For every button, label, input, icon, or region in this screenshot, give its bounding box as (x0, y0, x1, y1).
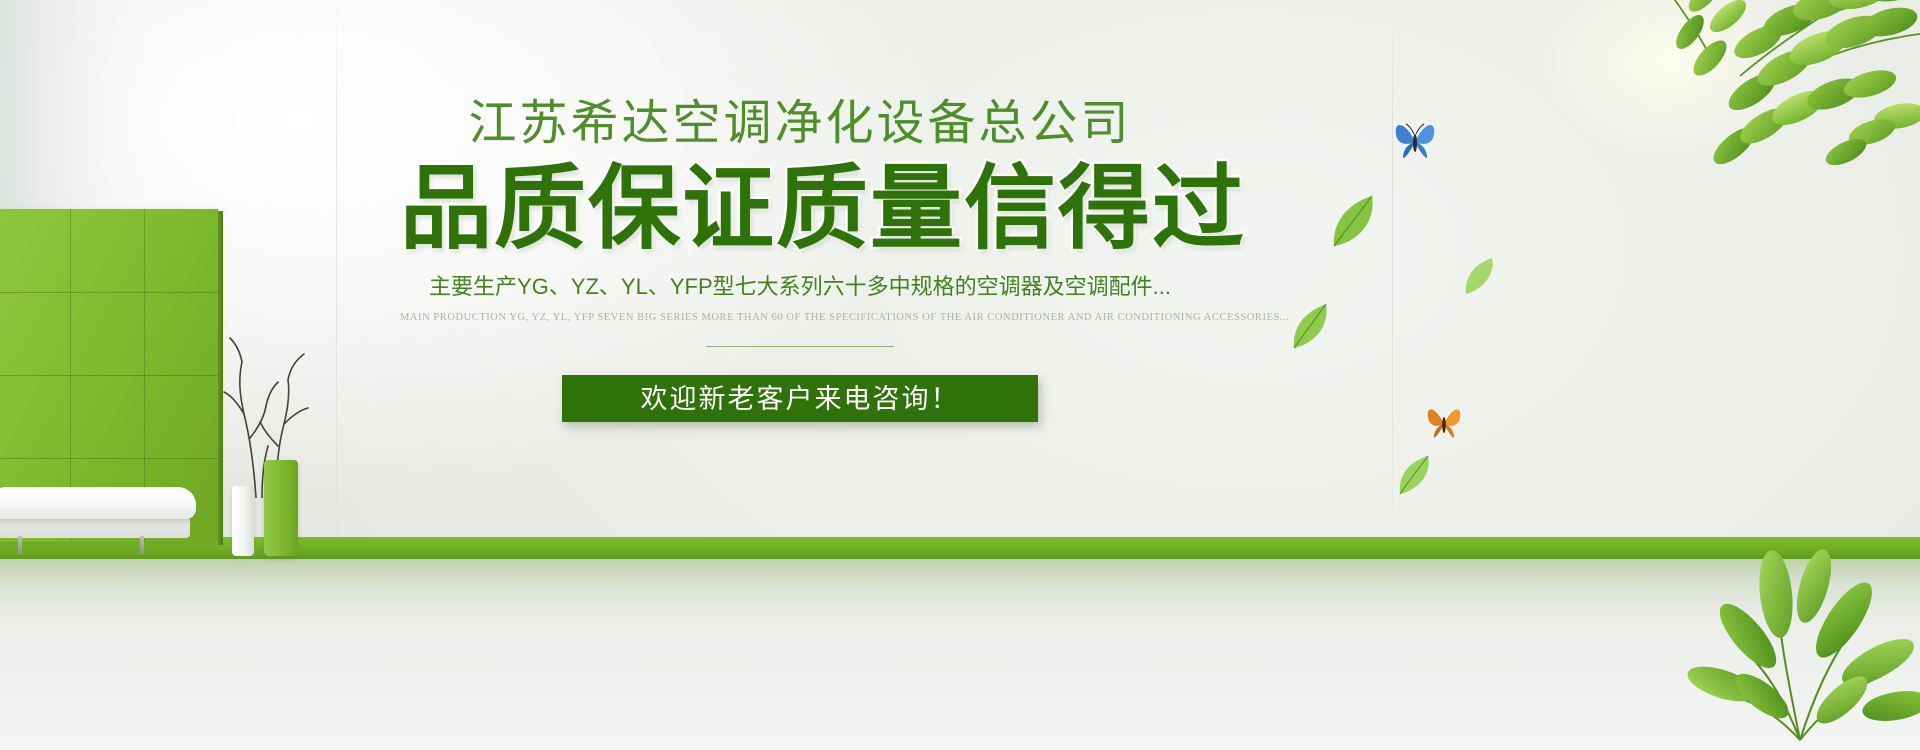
sofa-leg (140, 536, 144, 554)
wall-seam-right (1392, 0, 1393, 556)
promotional-banner: 江苏希达空调净化设备总公司 品质保证质量信得过 主要生产YG、YZ、YL、YFP… (0, 0, 1920, 750)
description-en: MAIN PRODUCTION YG, YZ, YL, YFP SEVEN BI… (400, 311, 1200, 325)
sofa-leg (18, 536, 22, 554)
banner-copy: 江苏希达空调净化设备总公司 品质保证质量信得过 主要生产YG、YZ、YL、YFP… (400, 96, 1200, 422)
headline: 品质保证质量信得过 (400, 161, 1200, 259)
green-vase (264, 460, 298, 556)
contact-cta-button[interactable]: 欢迎新老客户来电咨询！ (562, 375, 1038, 422)
wall-seam-left (336, 0, 337, 556)
description-cn: 主要生产YG、YZ、YL、YFP型七大系列六十多中规格的空调器及空调配件... (400, 272, 1200, 302)
sofa-seat (0, 487, 196, 519)
divider (706, 346, 894, 347)
white-vase (232, 486, 254, 556)
floor-reflection (0, 559, 1920, 619)
company-subtitle: 江苏希达空调净化设备总公司 (400, 96, 1200, 153)
